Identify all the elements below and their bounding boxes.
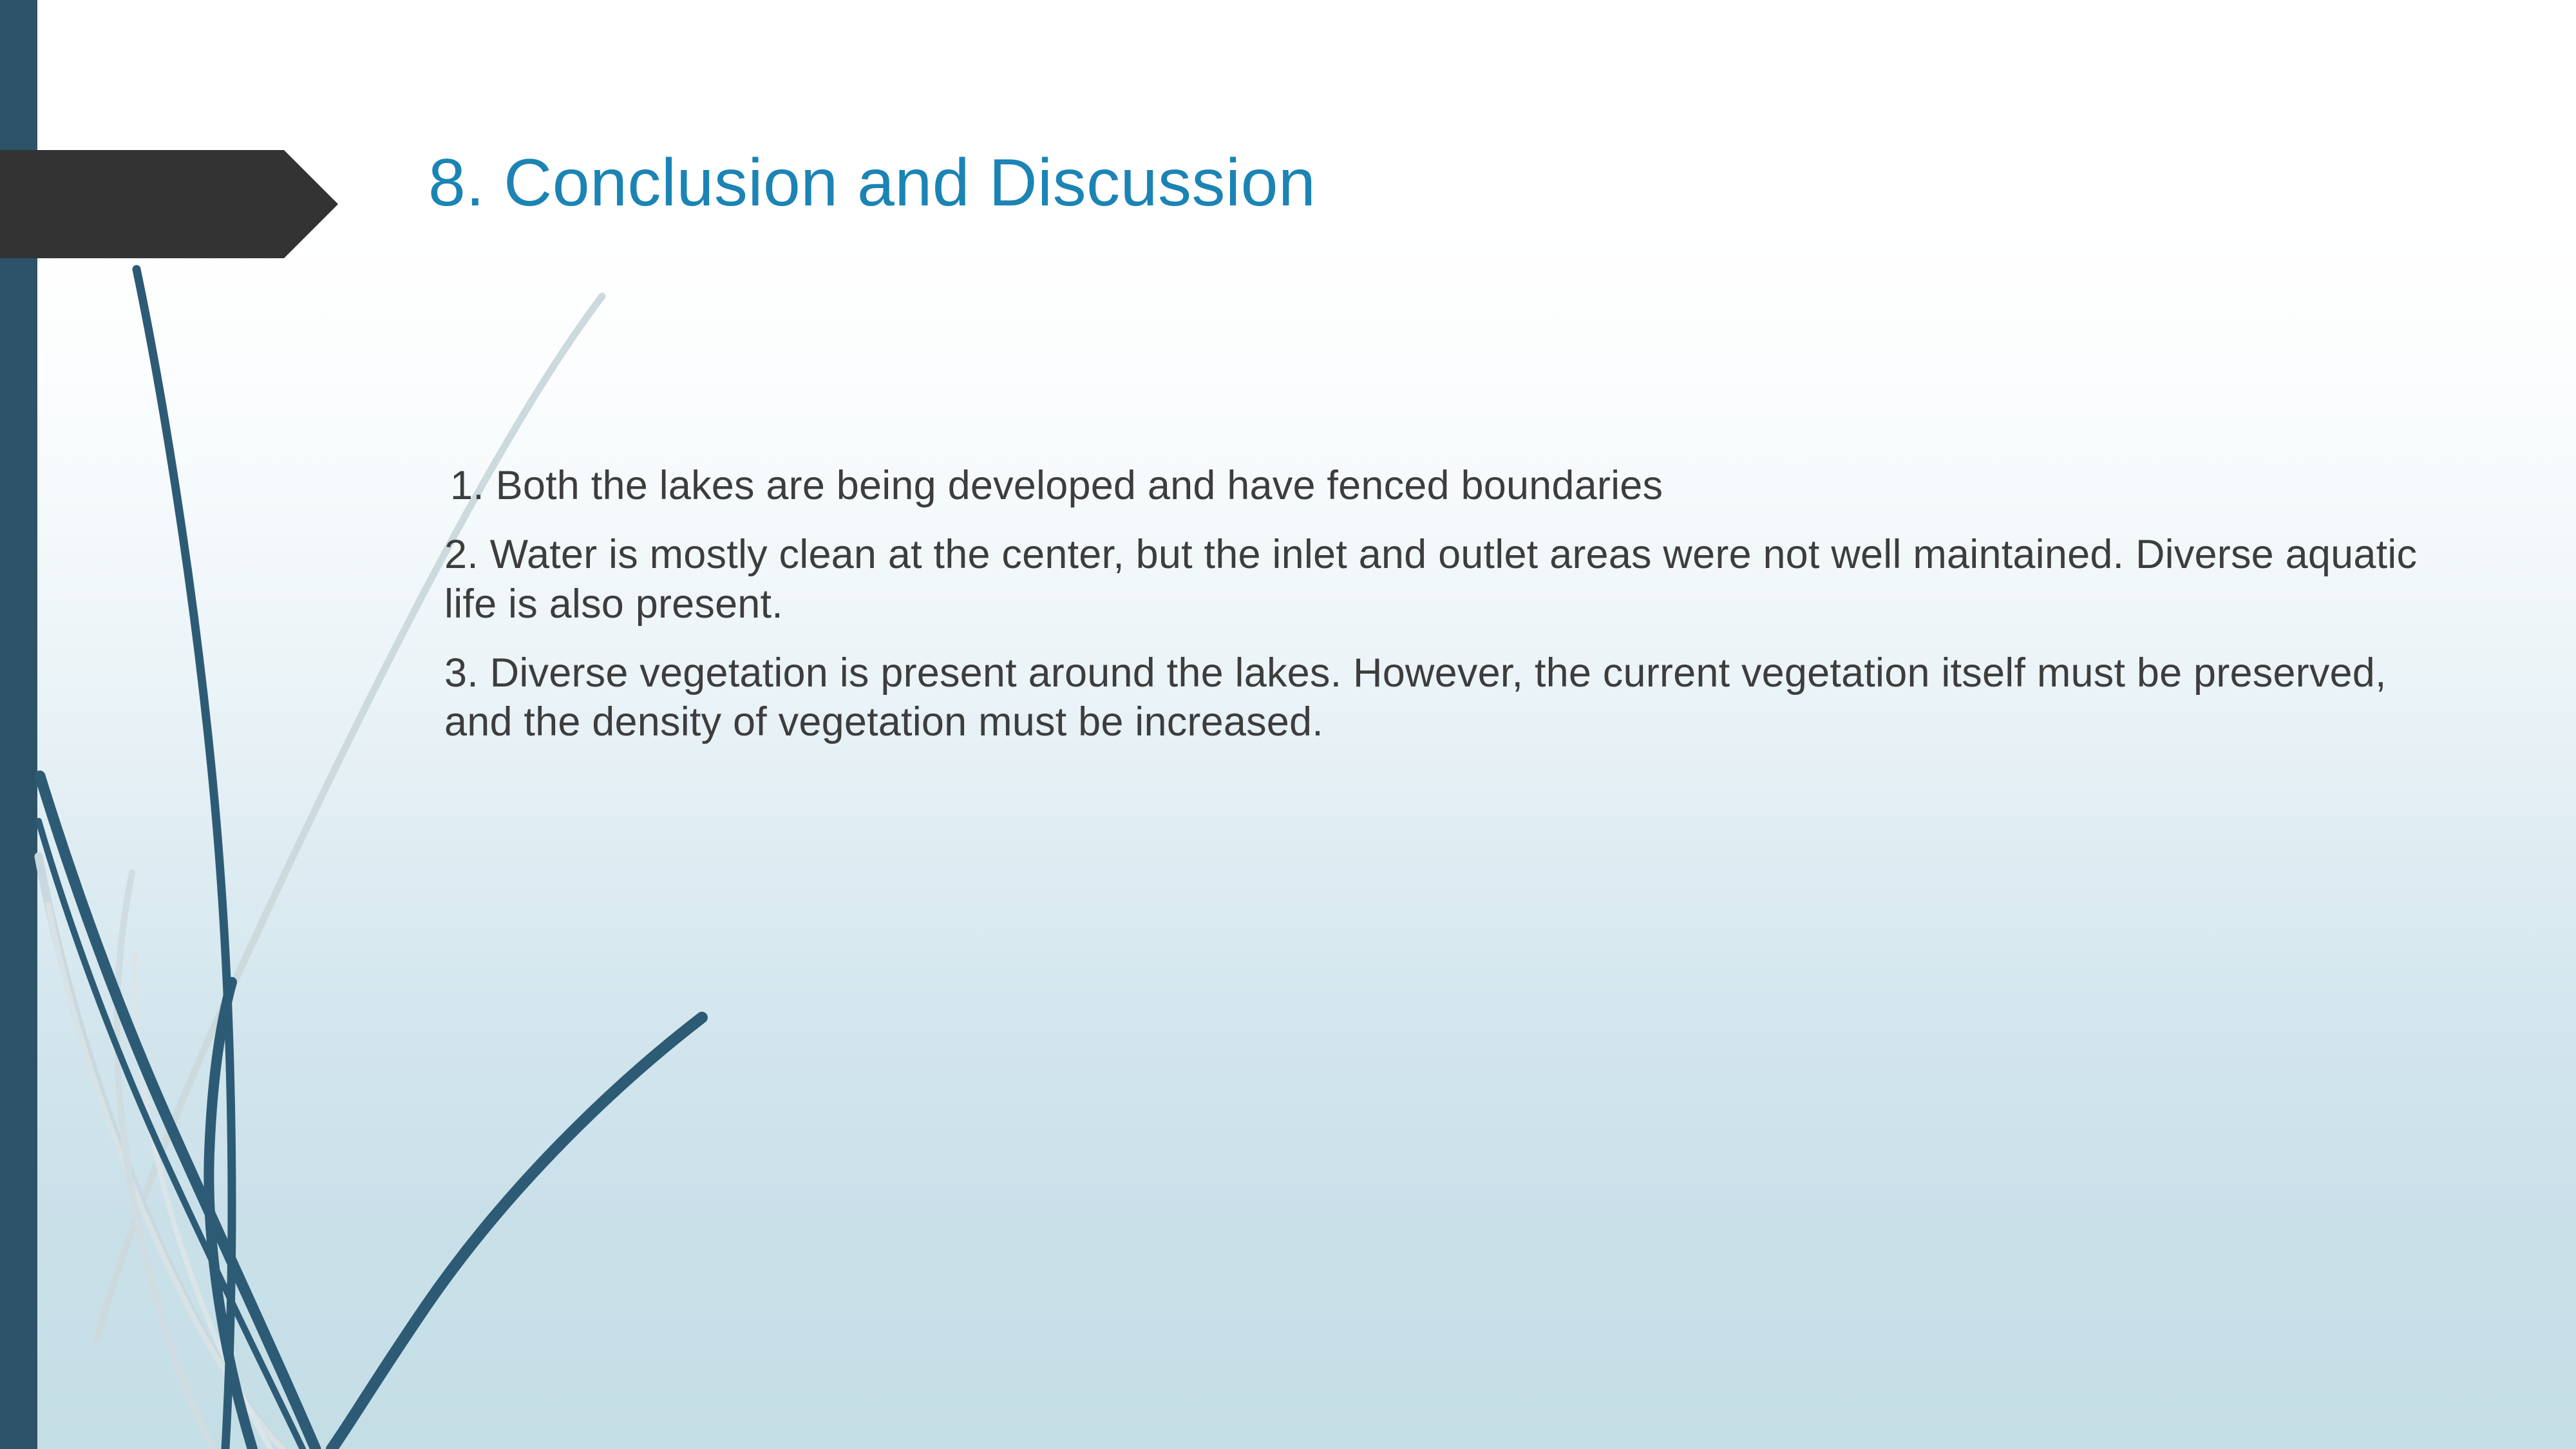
slide-title: 8. Conclusion and Discussion [428, 147, 2425, 219]
presentation-slide: 8. Conclusion and Discussion 1. Both the… [0, 0, 2576, 1449]
reed-dark-2 [40, 776, 316, 1449]
reed-light-1 [97, 296, 602, 1340]
reed-light-3 [48, 905, 283, 1449]
title-banner-arrow [0, 150, 338, 258]
reed-light-4 [117, 873, 213, 1449]
reed-dark-3 [39, 821, 303, 1449]
body-list-item: 3. Diverse vegetation is present around … [444, 649, 2454, 748]
reed-light-5 [134, 953, 270, 1449]
body-list-item: 1. Both the lakes are being developed an… [450, 461, 2454, 511]
chevron-shape [0, 150, 338, 258]
reed-dark-5 [332, 1018, 702, 1449]
slide-body: 1. Both the lakes are being developed an… [444, 461, 2454, 747]
body-list-item: 2. Water is mostly clean at the center, … [444, 530, 2454, 629]
reed-dark-4 [209, 982, 252, 1449]
reed-dark-1 [137, 269, 232, 1449]
reed-light-2 [39, 857, 283, 1449]
